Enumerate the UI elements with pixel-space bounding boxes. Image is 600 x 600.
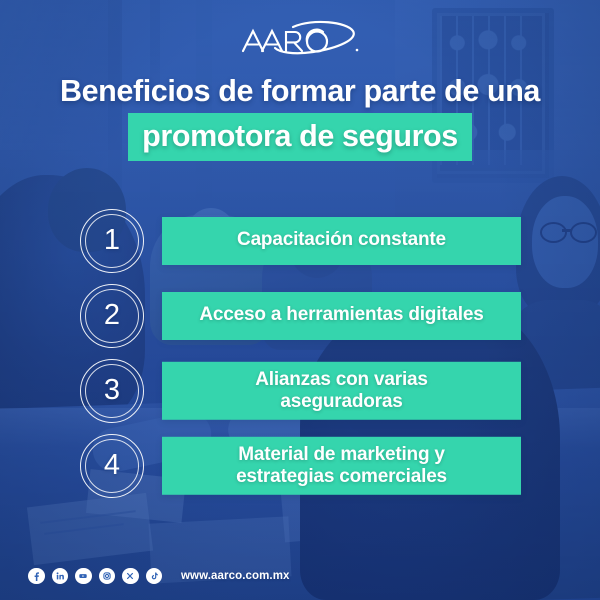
- footer: www.aarco.com.mx: [28, 568, 290, 585]
- benefit-number-circle-1: 1: [80, 209, 144, 273]
- benefit-number-4: 4: [104, 451, 120, 480]
- benefit-bar-3: Alianzas con varias aseguradoras: [162, 361, 521, 419]
- benefits-list: 1 Capacitación constante 2 Acceso a herr…: [0, 203, 600, 503]
- benefit-number-circle-4: 4: [80, 434, 144, 498]
- website-url[interactable]: www.aarco.com.mx: [181, 570, 290, 582]
- benefit-number-circle-2: 2: [80, 284, 144, 348]
- youtube-icon[interactable]: [75, 568, 92, 585]
- benefit-number-1: 1: [104, 226, 120, 255]
- benefit-label-4: Material de marketing y estrategias come…: [224, 436, 459, 494]
- benefit-label-3-line-1: Alianzas con varias: [255, 368, 428, 389]
- benefit-label-1: Capacitación constante: [225, 222, 458, 258]
- benefit-number-3: 3: [104, 376, 120, 405]
- infographic-poster: Beneficios de formar parte de una promot…: [0, 0, 600, 600]
- benefit-bar-1: Capacitación constante: [162, 217, 521, 265]
- headline-highlight: promotora de seguros: [128, 113, 472, 161]
- benefit-item-1: 1 Capacitación constante: [0, 203, 600, 278]
- benefit-bar-2: Acceso a herramientas digitales: [162, 292, 521, 340]
- benefit-bar-4: Material de marketing y estrategias come…: [162, 436, 521, 494]
- tiktok-icon[interactable]: [146, 568, 163, 585]
- benefit-label-4-line-1: Material de marketing y: [238, 443, 445, 464]
- page-title: Beneficios de formar parte de una promot…: [0, 74, 600, 161]
- instagram-icon[interactable]: [99, 568, 116, 585]
- aarco-swoosh-logo: [235, 19, 365, 59]
- aarco-logo: [0, 18, 600, 60]
- facebook-icon[interactable]: [28, 568, 45, 585]
- x-twitter-icon[interactable]: [122, 568, 139, 585]
- benefit-label-4-line-2: estrategias comerciales: [236, 466, 447, 487]
- benefit-number-2: 2: [104, 301, 120, 330]
- benefit-number-circle-3: 3: [80, 359, 144, 423]
- headline-line-1: Beneficios de formar parte de una: [0, 74, 600, 108]
- benefit-label-3: Alianzas con varias aseguradoras: [243, 361, 440, 419]
- benefit-item-4: 4 Material de marketing y estrategias co…: [0, 428, 600, 503]
- benefit-label-3-line-2: aseguradoras: [280, 391, 402, 412]
- linkedin-icon[interactable]: [52, 568, 69, 585]
- benefit-item-3: 3 Alianzas con varias aseguradoras: [0, 353, 600, 428]
- benefit-label-2: Acceso a herramientas digitales: [187, 297, 495, 333]
- benefit-item-2: 2 Acceso a herramientas digitales: [0, 278, 600, 353]
